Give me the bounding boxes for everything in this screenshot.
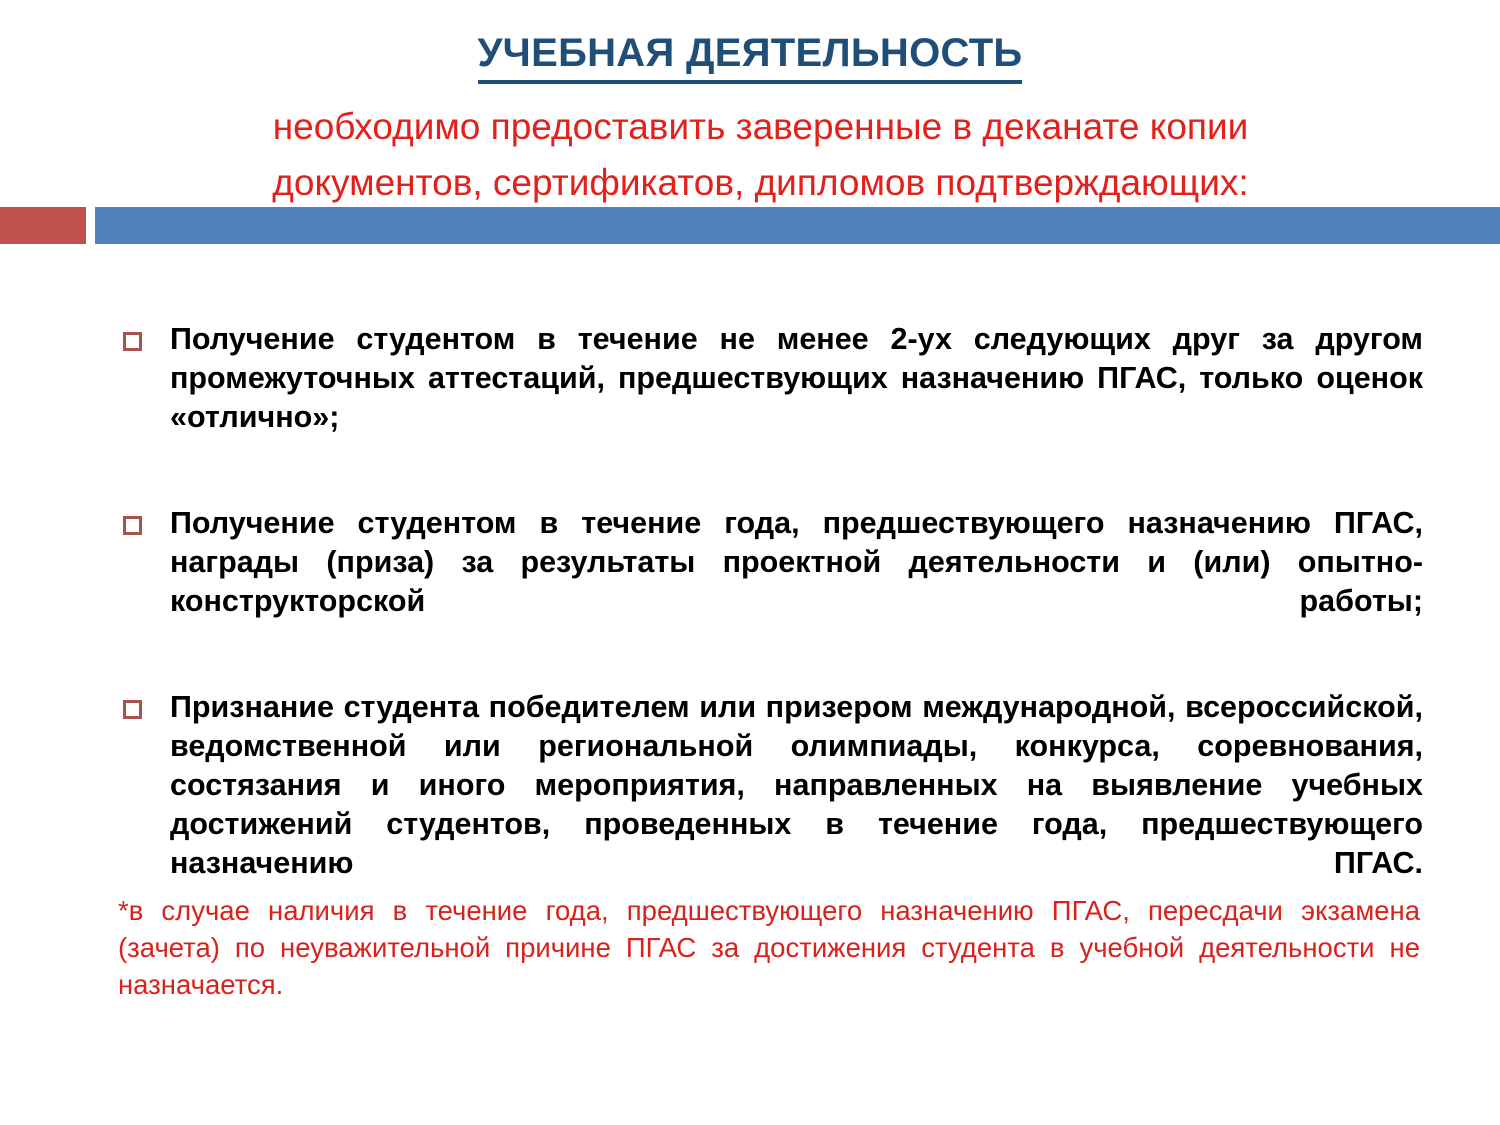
list-item: Признание студента победителем или призе… xyxy=(118,688,1423,922)
slide: УЧЕБНАЯ ДЕЯТЕЛЬНОСТЬ необходимо предоста… xyxy=(0,0,1500,1125)
list-item: Получение студентом в течение года, пред… xyxy=(118,504,1423,660)
square-outline-bullet-icon xyxy=(123,332,142,351)
page-title-text: УЧЕБНАЯ ДЕЯТЕЛЬНОСТЬ xyxy=(478,31,1023,84)
list-item-text: Признание студента победителем или призе… xyxy=(170,688,1423,922)
slide-subtitle-line-1: необходимо предоставить заверенные в дек… xyxy=(138,99,1383,155)
square-outline-bullet-icon xyxy=(123,700,142,719)
decorative-bar-blue xyxy=(95,207,1500,244)
list-item-text: Получение студентом в течение года, пред… xyxy=(170,504,1423,660)
page-title: УЧЕБНАЯ ДЕЯТЕЛЬНОСТЬ xyxy=(0,31,1500,76)
list-item: Получение студентом в течение не менее 2… xyxy=(118,320,1423,476)
bullet-list: Получение студентом в течение не менее 2… xyxy=(118,320,1423,922)
slide-subtitle-line-2: документов, сертификатов, дипломов подтв… xyxy=(138,155,1383,211)
slide-header: УЧЕБНАЯ ДЕЯТЕЛЬНОСТЬ необходимо предоста… xyxy=(0,0,1500,207)
slide-subtitle: необходимо предоставить заверенные в дек… xyxy=(138,99,1383,211)
footnote: *в случае наличия в течение года, предше… xyxy=(118,892,1420,1040)
decorative-bar-red xyxy=(0,207,86,244)
list-item-text: Получение студентом в течение не менее 2… xyxy=(170,320,1423,476)
slide-body: Получение студентом в течение не менее 2… xyxy=(0,244,1500,1125)
square-outline-bullet-icon xyxy=(123,516,142,535)
